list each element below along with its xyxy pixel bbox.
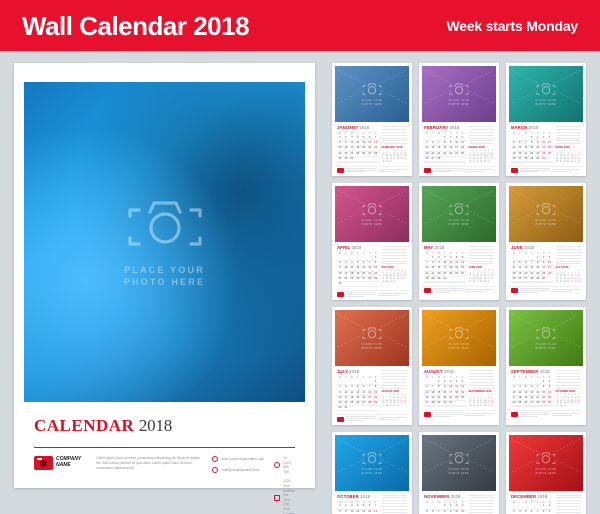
photo-caption-line1: PLACE YOUR — [449, 343, 470, 346]
day-cell-empty — [547, 162, 553, 163]
footer-text-lines — [433, 412, 463, 417]
day-grid: 1234567891011121314151617181920212223242… — [511, 256, 553, 283]
camera-logo-icon — [34, 456, 53, 470]
mini-day-cell — [403, 405, 407, 408]
month-photo-placeholder[interactable]: PLACE YOURPHOTO HERE — [422, 435, 496, 491]
footer-row: COMPANY NAME Lorem ipsum dolor sit amet,… — [34, 456, 295, 514]
weekday-row: MTWTFSS — [511, 132, 553, 135]
month-footer — [509, 286, 583, 296]
mini-day-cell — [403, 161, 407, 164]
month-card[interactable]: PLACE YOURPHOTO HEREOCTOBER 2018MTWTFSS1… — [332, 432, 412, 514]
photo-caption-line1: PLACE YOUR — [362, 219, 383, 222]
photo-caption-line1: PLACE YOUR — [536, 343, 557, 346]
camera-icon: PLACE YOURPHOTO HERE — [362, 82, 383, 106]
contact-block: www.yourcompanyname.com mail@companyname… — [212, 456, 295, 514]
month-footer — [422, 410, 496, 420]
footer-contact-lines — [378, 169, 408, 172]
month-label: JANUARY 2018 — [337, 125, 379, 130]
month-label: NOVEMBER 2018 — [424, 494, 466, 499]
calendar-title-year: 2018 — [139, 416, 172, 435]
day-grid: 1234567891011121314151617181920212223242… — [337, 256, 379, 287]
month-label: AUGUST 2018 — [424, 369, 466, 374]
month-label: MAY 2018 — [424, 245, 466, 250]
month-card[interactable]: PLACE YOURPHOTO HEREAUGUST 2018MTWTFSS12… — [419, 307, 499, 424]
day-grid: 1234567891011121314151617181920212223242… — [511, 504, 553, 514]
mini-day-cell — [577, 405, 581, 408]
month-photo-placeholder[interactable]: PLACE YOURPHOTO HERE — [422, 310, 496, 366]
photo-caption-line1: PLACE YOUR — [449, 219, 470, 222]
photo-caption-line1: PLACE YOUR — [362, 99, 383, 102]
phone-icon — [274, 462, 280, 468]
camera-icon: PLACE YOURPHOTO HERE — [536, 82, 557, 106]
main-calendar-page[interactable]: PLACE YOUR PHOTO HERE CALENDAR 2018 COMP… — [14, 63, 315, 488]
company-name-line2: NAME — [56, 462, 81, 468]
camera-icon: PLACE YOURPHOTO HERE — [362, 326, 383, 350]
month-notes-panel: AUGUST 201812345678910111213141516171819… — [382, 369, 407, 411]
weekday-row: MTWTFSS — [511, 501, 553, 504]
month-photo-placeholder[interactable]: PLACE YOURPHOTO HERE — [335, 435, 409, 491]
month-card[interactable]: PLACE YOURPHOTO HEREAPRIL 2018MTWTFSS123… — [332, 183, 412, 300]
month-photo-placeholder[interactable]: PLACE YOURPHOTO HERE — [509, 66, 583, 122]
footer-text-lines — [433, 288, 463, 293]
weekday-row: MTWTFSS — [337, 132, 379, 135]
month-photo-placeholder[interactable]: PLACE YOURPHOTO HERE — [509, 310, 583, 366]
month-body: NOVEMBER 2018MTWTFSS12345678910111213141… — [422, 491, 496, 514]
page-banner: Wall Calendar 2018 Week starts Monday — [0, 0, 600, 51]
day-cell[interactable]: 11 — [460, 510, 466, 514]
month-year: 2018 — [349, 369, 359, 374]
month-grid: SEPTEMBER 2018MTWTFSS1234567891011121314… — [511, 369, 553, 407]
day-cell-empty — [547, 282, 553, 283]
photo-caption-line1: PLACE YOUR — [449, 468, 470, 471]
month-label: JULY 2018 — [337, 369, 379, 374]
month-notes-panel: APRIL 2018123456789101112131415161718192… — [556, 125, 581, 163]
next-month-grid: 1234567891011121314151617181920212223242… — [556, 394, 581, 407]
next-month-label: APRIL 2018 — [556, 146, 581, 149]
photo-caption-line2: PHOTO HERE — [536, 347, 557, 350]
next-month-grid: 1234567891011121314151617181920212223242… — [469, 270, 494, 283]
next-month-label: AUGUST 2018 — [382, 390, 407, 393]
company-logo[interactable]: COMPANY NAME — [34, 456, 86, 470]
month-notes-panel: OCTOBER 20181234567891011121314151617181… — [556, 369, 581, 407]
photo-caption-line1: PLACE YOUR — [536, 468, 557, 471]
weekday-row: MTWTFSS — [337, 252, 379, 255]
photo-caption-line2: PHOTO HERE — [362, 103, 383, 106]
month-card[interactable]: PLACE YOURPHOTO HEREJULY 2018MTWTFSS1234… — [332, 307, 412, 424]
footer-contact-lines — [465, 413, 495, 416]
photo-caption-line2: PHOTO HERE — [536, 472, 557, 475]
photo-caption-line1: PLACE YOUR — [362, 343, 383, 346]
month-grid: MARCH 2018MTWTFSS12345678910111213141516… — [511, 125, 553, 163]
photo-caption-line2: PHOTO HERE — [449, 472, 470, 475]
next-month-label: JUNE 2018 — [469, 266, 494, 269]
footer-contact-lines — [552, 169, 582, 172]
month-year: 2018 — [451, 494, 461, 499]
month-grid: MAY 2018MTWTFSS1234567891011121314151617… — [424, 245, 466, 283]
day-cell-empty — [373, 282, 379, 287]
mail-icon — [212, 467, 218, 473]
month-year: 2018 — [359, 125, 369, 130]
footer-text-lines — [346, 292, 376, 297]
footer-text-lines — [433, 168, 463, 173]
camera-icon: PLACE YOURPHOTO HERE — [536, 202, 557, 226]
day-cell[interactable]: 9 — [547, 510, 553, 514]
month-footer — [422, 166, 496, 176]
month-footer — [509, 410, 583, 420]
month-photo-placeholder[interactable]: PLACE YOURPHOTO HERE — [509, 186, 583, 242]
location-icon — [274, 495, 280, 501]
month-card[interactable]: PLACE YOURPHOTO HEREJUNE 2018MTWTFSS1234… — [506, 183, 586, 300]
page-top-margin — [14, 63, 315, 82]
calendar-template-page: Wall Calendar 2018 Week starts Monday — [0, 0, 600, 514]
footer-text-lines — [520, 412, 550, 417]
photo-caption-line2: PHOTO HERE — [362, 472, 383, 475]
month-photo-placeholder[interactable]: PLACE YOURPHOTO HERE — [335, 310, 409, 366]
month-grid: NOVEMBER 2018MTWTFSS12345678910111213141… — [424, 494, 466, 514]
mini-day-cell: 29 — [577, 281, 581, 284]
page-title: Wall Calendar 2018 — [22, 13, 249, 39]
month-label: FEBRUARY 2018 — [424, 125, 466, 130]
weekday-row: MTWTFSS — [511, 376, 553, 379]
footer-contact-lines — [378, 417, 408, 420]
next-month-grid: 1234567891011121314151617181920212223242… — [469, 150, 494, 163]
month-notes-panel: JULY 20181234567891011121314151617181920… — [556, 245, 581, 283]
contact-phone[interactable]: +0 (123) 456 789 — [274, 456, 295, 474]
month-body: JUNE 2018MTWTFSS123456789101112131415161… — [509, 242, 583, 286]
day-grid: 1234567891011121314151617181920212223242… — [424, 504, 466, 514]
footer-contact-lines — [465, 169, 495, 172]
contact-website[interactable]: www.yourcompanyname.com — [212, 456, 264, 462]
calendar-title-word: CALENDAR — [34, 416, 134, 435]
day-grid: 1234567891011121314151617181920212223242… — [337, 136, 379, 163]
month-grid: DECEMBER 2018MTWTFSS12345678910111213141… — [511, 494, 553, 514]
camera-icon: PLACE YOURPHOTO HERE — [449, 202, 470, 226]
month-body: JULY 2018MTWTFSS123456789101112131415161… — [335, 366, 409, 414]
company-logo-icon — [424, 168, 431, 173]
month-body: FEBRUARY 2018MTWTFSS12345678910111213141… — [422, 122, 496, 166]
photo-caption-line2: PHOTO HERE — [124, 276, 205, 288]
next-month-grid: 1234567891011121314151617181920212223242… — [556, 270, 581, 283]
camera-icon: PLACE YOURPHOTO HERE — [362, 451, 383, 475]
next-month-label: FEBRUARY 2018 — [382, 146, 407, 149]
camera-icon: PLACE YOURPHOTO HERE — [362, 202, 383, 226]
mini-day-cell: 29 — [577, 161, 581, 164]
month-card[interactable]: PLACE YOURPHOTO HEREMARCH 2018MTWTFSS123… — [506, 63, 586, 176]
month-card[interactable]: PLACE YOURPHOTO HEREJANUARY 2018MTWTFSS1… — [332, 63, 412, 176]
weekday-row: MTWTFSS — [424, 132, 466, 135]
month-grid: FEBRUARY 2018MTWTFSS12345678910111213141… — [424, 125, 466, 163]
company-logo-icon — [337, 168, 344, 173]
month-body: MARCH 2018MTWTFSS12345678910111213141516… — [509, 122, 583, 166]
month-footer — [335, 166, 409, 176]
next-month-grid: 1234567891011121314151617181920212223242… — [382, 150, 407, 163]
month-notes-panel: SEPTEMBER 201812345678910111213141516171… — [469, 369, 494, 407]
month-photo-placeholder[interactable]: PLACE YOURPHOTO HERE — [509, 435, 583, 491]
month-grid: APRIL 2018MTWTFSS12345678910111213141516… — [337, 245, 379, 287]
photo-placeholder-caption: PLACE YOUR PHOTO HERE — [124, 264, 205, 288]
calendar-title: CALENDAR 2018 — [34, 416, 295, 436]
month-year: 2018 — [352, 245, 362, 250]
month-notes-panel: MARCH 2018123456789101112131415161718192… — [469, 125, 494, 163]
mini-day-cell — [403, 281, 407, 284]
month-photo-placeholder[interactable]: PLACE YOURPHOTO HERE — [335, 66, 409, 122]
contact-email[interactable]: mail@companyname.com — [212, 467, 264, 473]
month-body: MAY 2018MTWTFSS1234567891011121314151617… — [422, 242, 496, 286]
camera-icon — [126, 196, 204, 258]
company-logo-icon — [424, 412, 431, 417]
next-month-grid: 1234567891011121314151617181920212223242… — [556, 150, 581, 163]
month-year: 2018 — [524, 245, 534, 250]
month-notes-panel: NOVEMBER 2018123456789101112131415161718… — [382, 494, 407, 514]
camera-icon: PLACE YOURPHOTO HERE — [536, 451, 557, 475]
footer-contact-lines — [465, 289, 495, 292]
footer-text-lines — [520, 288, 550, 293]
month-grid: JUNE 2018MTWTFSS123456789101112131415161… — [511, 245, 553, 283]
company-name: COMPANY NAME — [56, 456, 81, 468]
day-grid: 1234567891011121314151617181920212223242… — [424, 380, 466, 407]
month-year: 2018 — [444, 369, 454, 374]
photo-caption-line1: PLACE YOUR — [536, 99, 557, 102]
next-month-grid: 1234567891011121314151617181920212223242… — [469, 394, 494, 407]
month-notes-panel: JANUARY 20191234567891011121314151617181… — [556, 494, 581, 514]
mini-day-cell — [490, 161, 494, 164]
photo-caption-line2: PHOTO HERE — [536, 103, 557, 106]
company-logo-icon — [511, 412, 518, 417]
footer-contact-lines — [552, 413, 582, 416]
footer-contact-lines — [378, 293, 408, 296]
photo-caption-line2: PHOTO HERE — [362, 347, 383, 350]
month-label: DECEMBER 2018 — [511, 494, 553, 499]
contact-column-left: www.yourcompanyname.com mail@companyname… — [212, 456, 264, 514]
day-grid: 1234567891011121314151617181920212223242… — [511, 380, 553, 407]
month-label: JUNE 2018 — [511, 245, 553, 250]
next-month-grid: 1234567891011121314151617181920212223242… — [382, 394, 407, 407]
month-body: APRIL 2018MTWTFSS12345678910111213141516… — [335, 242, 409, 290]
photo-caption-line2: PHOTO HERE — [536, 223, 557, 226]
day-cell-empty — [460, 282, 466, 283]
month-year: 2018 — [435, 245, 445, 250]
month-body: OCTOBER 2018MTWTFSS123456789101112131415… — [335, 491, 409, 514]
month-thumbnail-grid: PLACE YOURPHOTO HEREJANUARY 2018MTWTFSS1… — [332, 63, 586, 514]
globe-icon — [212, 456, 218, 462]
week-start-label: Week starts Monday — [446, 18, 578, 34]
month-card[interactable]: PLACE YOURPHOTO HERENOVEMBER 2018MTWTFSS… — [419, 432, 499, 514]
month-year: 2018 — [537, 494, 547, 499]
month-year: 2018 — [540, 369, 550, 374]
contact-column-right: +0 (123) 456 789 1234 Your address line … — [274, 456, 295, 514]
next-month-label: MARCH 2018 — [469, 146, 494, 149]
month-notes-panel: DECEMBER 2018123456789101112131415161718… — [469, 494, 494, 514]
day-grid: 1234567891011121314151617181920212223242… — [424, 136, 466, 163]
photo-caption-line1: PLACE YOUR — [124, 264, 205, 276]
day-cell-empty — [460, 406, 466, 407]
weekday-row: MTWTFSS — [337, 376, 379, 379]
photo-caption-line2: PHOTO HERE — [449, 223, 470, 226]
next-month-label: MAY 2018 — [382, 266, 407, 269]
weekday-header: S — [547, 132, 553, 135]
next-month-label: OCTOBER 2018 — [556, 390, 581, 393]
main-photo-placeholder[interactable]: PLACE YOUR PHOTO HERE — [24, 82, 305, 402]
weekday-row: MTWTFSS — [511, 252, 553, 255]
day-grid: 1234567891011121314151617181920212223242… — [337, 504, 379, 514]
month-footer — [509, 166, 583, 176]
photo-caption-line1: PLACE YOUR — [449, 99, 470, 102]
day-cell-empty — [373, 162, 379, 163]
month-year: 2018 — [450, 125, 460, 130]
day-cell[interactable]: 14 — [373, 510, 379, 514]
month-card[interactable]: PLACE YOURPHOTO HEREMAY 2018MTWTFSS12345… — [419, 183, 499, 300]
photo-caption-line2: PHOTO HERE — [362, 223, 383, 226]
month-body: JANUARY 2018MTWTFSS123456789101112131415… — [335, 122, 409, 166]
month-notes-panel: MAY 201812345678910111213141516171819202… — [382, 245, 407, 287]
month-grid: AUGUST 2018MTWTFSS1234567891011121314151… — [424, 369, 466, 407]
footer-text-lines — [346, 416, 376, 421]
camera-icon: PLACE YOURPHOTO HERE — [536, 326, 557, 350]
company-logo-icon — [511, 288, 518, 293]
month-photo-placeholder[interactable]: PLACE YOURPHOTO HERE — [422, 66, 496, 122]
day-grid: 1234567891011121314151617181920212223242… — [337, 380, 379, 411]
next-month-label: SEPTEMBER 2018 — [469, 390, 494, 393]
day-cell-empty — [547, 406, 553, 407]
month-footer — [335, 414, 409, 424]
company-logo-icon — [337, 292, 344, 297]
photo-caption-line1: PLACE YOUR — [536, 219, 557, 222]
month-grid: JULY 2018MTWTFSS123456789101112131415161… — [337, 369, 379, 411]
month-photo-placeholder[interactable]: PLACE YOURPHOTO HERE — [422, 186, 496, 242]
month-footer — [335, 290, 409, 300]
month-grid: OCTOBER 2018MTWTFSS123456789101112131415… — [337, 494, 379, 514]
weekday-header: S — [373, 132, 379, 135]
day-grid: 1234567891011121314151617181920212223242… — [511, 136, 553, 163]
month-card[interactable]: PLACE YOURPHOTO HERESEPTEMBER 2018MTWTFS… — [506, 307, 586, 424]
footer-text-lines — [346, 168, 376, 173]
day-grid: 1234567891011121314151617181920212223242… — [424, 256, 466, 283]
day-cell-empty — [373, 406, 379, 411]
month-label: OCTOBER 2018 — [337, 494, 379, 499]
month-photo-placeholder[interactable]: PLACE YOURPHOTO HERE — [335, 186, 409, 242]
month-year: 2018 — [360, 494, 370, 499]
mini-day-cell — [490, 281, 494, 284]
contact-address[interactable]: 1234 Your address line Your City, Your C… — [274, 479, 295, 514]
camera-icon: PLACE YOURPHOTO HERE — [449, 451, 470, 475]
month-notes-panel: FEBRUARY 2018123456789101112131415161718… — [382, 125, 407, 163]
main-page-footer: CALENDAR 2018 COMPANY NAME Lorem ipsum d… — [14, 402, 315, 514]
footer-text-lines — [520, 168, 550, 173]
camera-icon: PLACE YOURPHOTO HERE — [449, 326, 470, 350]
photo-caption-line2: PHOTO HERE — [449, 347, 470, 350]
photo-caption-line1: PLACE YOUR — [362, 468, 383, 471]
month-grid: JANUARY 2018MTWTFSS123456789101112131415… — [337, 125, 379, 163]
month-card[interactable]: PLACE YOURPHOTO HEREDECEMBER 2018MTWTFSS… — [506, 432, 586, 514]
photo-caption-line2: PHOTO HERE — [449, 103, 470, 106]
month-label: SEPTEMBER 2018 — [511, 369, 553, 374]
month-year: 2018 — [529, 125, 539, 130]
mini-day-cell: 30 — [490, 405, 494, 408]
camera-icon: PLACE YOURPHOTO HERE — [449, 82, 470, 106]
footer-description: Lorem ipsum dolor sit amet, consectetur … — [96, 456, 202, 472]
month-body: DECEMBER 2018MTWTFSS12345678910111213141… — [509, 491, 583, 514]
day-cell-empty — [460, 162, 466, 163]
footer-contact-lines — [552, 289, 582, 292]
month-label: APRIL 2018 — [337, 245, 379, 250]
company-logo-icon — [337, 417, 344, 422]
next-month-grid: 1234567891011121314151617181920212223242… — [382, 270, 407, 283]
month-body: SEPTEMBER 2018MTWTFSS1234567891011121314… — [509, 366, 583, 410]
month-label: MARCH 2018 — [511, 125, 553, 130]
photo-placeholder-content: PLACE YOUR PHOTO HERE — [24, 196, 305, 288]
company-logo-icon — [511, 168, 518, 173]
footer-divider — [34, 447, 295, 448]
month-body: AUGUST 2018MTWTFSS1234567891011121314151… — [422, 366, 496, 410]
next-month-label: JULY 2018 — [556, 266, 581, 269]
weekday-header: S — [460, 132, 466, 135]
month-card[interactable]: PLACE YOURPHOTO HEREFEBRUARY 2018MTWTFSS… — [419, 63, 499, 176]
month-footer — [422, 286, 496, 296]
month-notes-panel: JUNE 20181234567891011121314151617181920… — [469, 245, 494, 283]
company-logo-icon — [424, 288, 431, 293]
